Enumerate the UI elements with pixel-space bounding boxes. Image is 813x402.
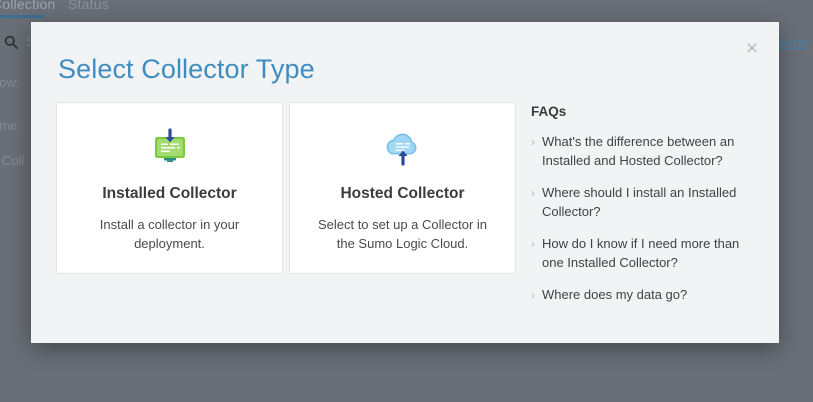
chevron-right-icon: › (531, 235, 535, 272)
column-header-name: ame (0, 118, 17, 133)
select-collector-type-dialog: × Select Collector Type (31, 22, 779, 343)
tab-active-underline (0, 15, 44, 18)
chevron-right-icon: › (531, 184, 535, 221)
faq-text: How do I know if I need more than one In… (542, 235, 756, 272)
faq-link[interactable]: › How do I know if I need more than one … (531, 235, 756, 272)
faq-text: What's the difference between an Install… (542, 133, 756, 170)
background-tabbar: Collection Status (0, 0, 813, 22)
faqs-heading: FAQs (531, 104, 756, 119)
dialog-title: Select Collector Type (58, 54, 315, 85)
faqs-panel: FAQs › What's the difference between an … (531, 104, 756, 319)
faq-link[interactable]: › Where should I install an Installed Co… (531, 184, 756, 221)
installed-collector-icon (148, 125, 192, 171)
tab-collection[interactable]: Collection (0, 0, 55, 12)
card-title: Hosted Collector (340, 185, 464, 203)
show-filter-label[interactable]: how: (0, 75, 19, 90)
card-hosted-collector[interactable]: Hosted Collector Select to set up a Coll… (289, 102, 516, 274)
setup-wizard-link[interactable]: Wizar (777, 36, 809, 50)
screen: Collection Status S how: ame o Coll Wiza… (0, 0, 813, 402)
card-description: Install a collector in your deployment. (75, 215, 265, 253)
card-installed-collector[interactable]: Installed Collector Install a collector … (56, 102, 283, 274)
faq-text: Where should I install an Installed Coll… (542, 184, 756, 221)
faq-link[interactable]: › What's the difference between an Insta… (531, 133, 756, 170)
tab-status[interactable]: Status (68, 0, 109, 12)
faq-link[interactable]: › Where does my data go? (531, 286, 756, 305)
hosted-collector-icon (381, 125, 425, 171)
chevron-right-icon: › (531, 133, 535, 170)
search-icon (4, 35, 18, 49)
faq-text: Where does my data go? (542, 286, 687, 305)
collector-type-cards: Installed Collector Install a collector … (56, 102, 516, 274)
chevron-right-icon: › (531, 286, 535, 305)
no-collectors-label: o Coll (0, 153, 24, 168)
close-icon[interactable]: × (739, 35, 765, 61)
card-description: Select to set up a Collector in the Sumo… (308, 215, 498, 253)
card-title: Installed Collector (102, 185, 236, 203)
